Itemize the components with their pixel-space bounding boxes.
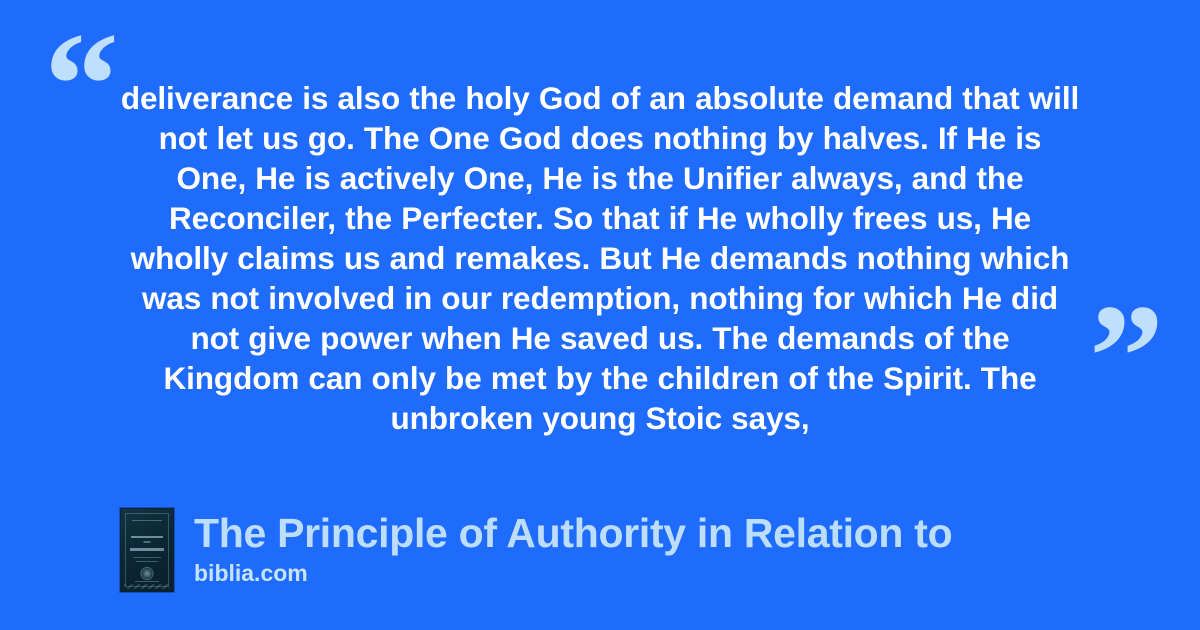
book-cover-publisher-line: [132, 520, 162, 521]
book-cover-author-line: [135, 581, 159, 582]
site-name[interactable]: biblia.com: [194, 559, 952, 587]
footer-text: The Principle of Authority in Relation t…: [194, 508, 952, 587]
open-quote-icon: “: [44, 10, 117, 160]
quote-card: “ deliverance is also the holy God of an…: [0, 0, 1200, 630]
book-cover-ornament: [124, 584, 170, 589]
close-quote-icon: ”: [1089, 282, 1162, 432]
book-cover-subtitle-line-1: [133, 557, 161, 558]
quote-block: “ deliverance is also the holy God of an…: [0, 0, 1200, 460]
book-cover-subtitle-line-2: [136, 561, 158, 562]
book-cover-thumbnail: [120, 508, 174, 592]
quote-text: deliverance is also the holy God of an a…: [120, 78, 1080, 438]
book-cover-title-line-of: [144, 541, 151, 543]
book-cover-title-line-1: [131, 536, 163, 538]
footer: The Principle of Authority in Relation t…: [120, 508, 952, 592]
book-title: The Principle of Authority in Relation t…: [194, 510, 952, 556]
book-cover-title-line-2: [130, 548, 164, 551]
book-cover-seal-icon: [141, 567, 154, 580]
